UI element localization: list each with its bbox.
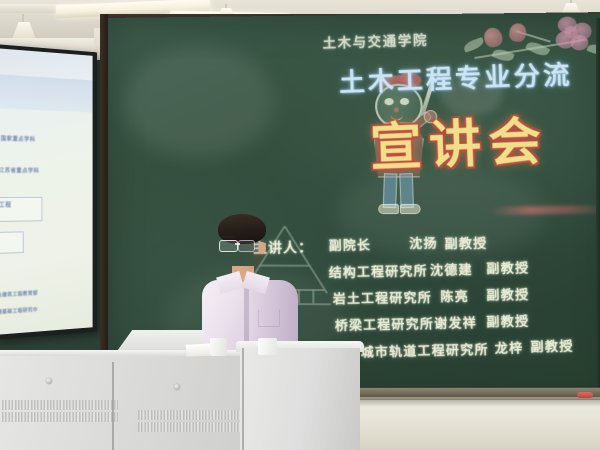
slide-line-2: 工程	[0, 200, 12, 209]
board-smudge-1	[124, 46, 276, 158]
roster-row-0-rank: 副教授	[444, 232, 487, 252]
chalk-man-shoe-left	[378, 204, 399, 214]
roster-row-1-name: 沈德建	[430, 259, 473, 279]
roster-row-4-name: 龙梓	[494, 337, 523, 357]
board-header-school: 土木与交通学院	[322, 29, 428, 52]
roster-row-2-institute: 岩土工程研究所	[333, 287, 432, 308]
podium-vent-3	[138, 410, 244, 420]
lamp-rod-1	[22, 14, 24, 23]
slide-line-1: 江苏省重点学科	[0, 166, 39, 174]
board-title-event: 宣讲会	[369, 100, 550, 180]
cup-left[interactable]	[210, 338, 227, 356]
glasses-lens-left	[219, 240, 238, 252]
blackboard-right-edge	[596, 18, 600, 400]
roster-row-1-institute: 结构工程研究所	[329, 260, 428, 281]
slide-highlight-box-2	[0, 231, 24, 254]
classroom-photo: 国家重点学科 江苏省重点学科 工程 与建筑工程教育部 通基础工程研究中	[0, 0, 600, 450]
red-chalk	[577, 392, 593, 398]
podium-lock-2[interactable]	[174, 384, 180, 390]
speaker-person	[196, 214, 302, 354]
board-title-subject: 土木工程专业分流	[339, 55, 573, 100]
roster-row-3-institute: 桥梁工程研究所	[335, 313, 435, 334]
podium-main	[0, 356, 246, 450]
chalk-man-eye-right	[400, 98, 409, 105]
podium-lock-1[interactable]	[46, 378, 52, 384]
roster-row-2-name: 陈亮	[440, 285, 469, 305]
glasses-bridge	[235, 243, 240, 245]
slide-title-band	[0, 74, 93, 113]
blackboard-frame-left	[100, 14, 108, 404]
cup-right[interactable]	[258, 338, 277, 355]
roster-row-2-rank: 副教授	[486, 283, 530, 303]
podium-vent-2	[2, 412, 118, 422]
roster-row-0-institute: 副院长	[329, 234, 372, 254]
roster-row-4-rank: 副教授	[530, 335, 574, 355]
slide-line-4: 通基础工程研究中	[0, 306, 38, 316]
glasses-lens-right	[238, 240, 255, 252]
podium-vent-1	[2, 400, 118, 410]
chalk-man-eye-left	[384, 98, 393, 105]
roster-row-1-rank: 副教授	[486, 257, 530, 277]
speaker-shirt-pocket	[258, 310, 280, 327]
pyramid-tick-5	[312, 289, 314, 303]
flower-center	[564, 26, 578, 38]
projection-screen-surface: 国家重点学科 江苏省重点学科 工程 与建筑工程教育部 通基础工程研究中	[0, 48, 93, 335]
roster-row-3-rank: 副教授	[486, 310, 530, 330]
roster-row-3-name: 谢发祥	[434, 312, 477, 332]
podium-seam-1	[112, 362, 114, 450]
slide-line-0: 国家重点学科	[1, 134, 36, 143]
board-eraser-streak	[490, 205, 600, 215]
flower-bud-2	[508, 22, 527, 42]
chalk-man-shoe-right	[400, 204, 421, 214]
flower-leaf-3	[462, 37, 485, 53]
speaker-ear	[258, 242, 266, 254]
podium-side	[240, 348, 360, 450]
podium-vent-4	[138, 422, 244, 432]
flower-bud-1	[482, 25, 505, 49]
podium-seam-2	[242, 348, 244, 450]
projection-screen: 国家重点学科 江苏省重点学科 工程 与建筑工程教育部 通基础工程研究中	[0, 44, 97, 340]
roster-row-0-name: 沈扬	[409, 232, 438, 252]
slide-line-3: 与建筑工程教育部	[0, 290, 38, 299]
